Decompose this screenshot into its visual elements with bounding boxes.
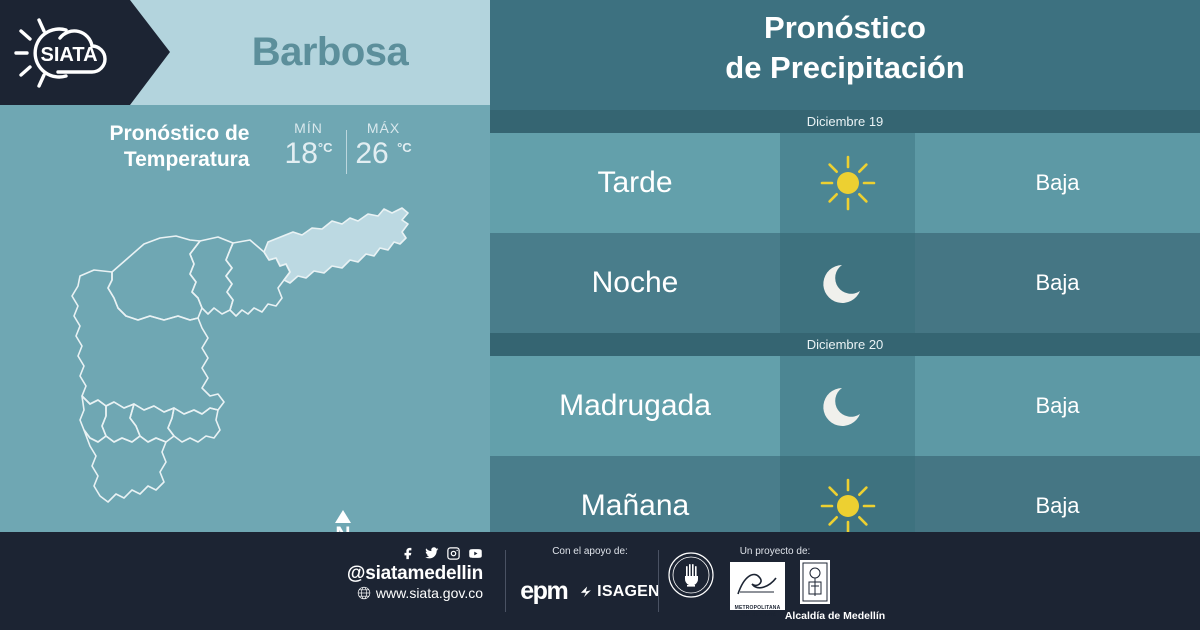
max-value-wrap: 26 °C (347, 137, 421, 171)
instagram-icon[interactable] (446, 546, 461, 561)
facebook-icon[interactable] (402, 546, 417, 561)
footer: @siatamedellin www.siata.gov.co Con el a… (0, 532, 1200, 630)
precipitation-title-line2: de Precipitación (725, 50, 964, 85)
forecast-period-label: Madrugada (559, 389, 711, 423)
isagen-logo: ISAGEN (579, 583, 660, 601)
forecast-row: TardeBaja (490, 133, 1200, 233)
project-block: Un proyecto de: (720, 546, 920, 557)
temperature-title-line2: Temperatura (124, 148, 250, 171)
map-svg (50, 180, 450, 525)
social-handle[interactable]: @siatamedellin (318, 563, 483, 585)
valley-map[interactable]: N (50, 180, 450, 525)
forecast-icon-cell (780, 133, 915, 233)
area-metropolitana-logo: METROPOLITANA Valle de Aburrá (730, 562, 785, 610)
area-logo-icon (730, 562, 785, 610)
footer-divider-1 (505, 550, 506, 612)
moon-icon (820, 378, 876, 434)
forecast-icon-cell (780, 356, 915, 456)
city-title: Barbosa (170, 0, 490, 105)
left-header: SIATA Barbosa (0, 0, 490, 105)
temperature-min: MÍN 18°C (272, 120, 346, 171)
website-row[interactable]: www.siata.gov.co (318, 585, 483, 601)
precipitation-title: Pronóstico de Precipitación (490, 8, 1200, 87)
youtube-icon[interactable] (468, 546, 483, 561)
area-logo-line2: Valle de Aburrá (730, 612, 785, 619)
sun-cloud-icon: SIATA (14, 16, 132, 90)
map-region-bello (108, 236, 202, 320)
forecast-period-cell: Tarde (490, 133, 780, 233)
isagen-text: ISAGEN (597, 583, 660, 601)
forecast-level-label: Baja (1035, 270, 1079, 296)
min-value: 18 (285, 137, 318, 170)
map-region-envigado (168, 408, 220, 442)
temperature-title: Pronóstico de Temperatura (70, 121, 250, 172)
social-block: @siatamedellin www.siata.gov.co (318, 546, 483, 601)
forecast-period-label: Mañana (581, 489, 689, 523)
alcaldia-label: Alcaldía de Medellín (780, 610, 890, 622)
max-unit: °C (397, 140, 412, 155)
temperature-values: MÍN 18°C MÁX 26 °C (272, 120, 421, 174)
footer-divider-2 (658, 550, 659, 612)
forecast-period-label: Tarde (597, 166, 672, 200)
university-seal (668, 552, 714, 598)
temperature-title-line1: Pronóstico de (109, 122, 249, 145)
map-region-itagui (130, 404, 174, 442)
map-region-barbosa (264, 208, 408, 283)
sun-icon (820, 155, 876, 211)
social-icon-row (318, 546, 483, 561)
forecast-table: Diciembre 19TardeBajaNocheBajaDiciembre … (490, 110, 1200, 556)
temperature-max: MÁX 26 °C (347, 120, 421, 171)
epm-logo: epm (520, 577, 567, 606)
map-region-copacabana (190, 237, 233, 314)
area-logo-line1: METROPOLITANA (730, 605, 785, 612)
map-region-sabaneta (102, 402, 140, 442)
website-text: www.siata.gov.co (376, 585, 483, 601)
forecast-level-label: Baja (1035, 170, 1079, 196)
temperature-divider (346, 130, 347, 174)
forecast-level-cell: Baja (915, 133, 1200, 233)
logo-text: SIATA (40, 44, 97, 66)
precipitation-panel: Pronóstico de Precipitación Diciembre 19… (490, 0, 1200, 532)
isagen-mark-icon (579, 584, 594, 599)
moon-icon (820, 255, 876, 311)
logo-wedge: SIATA (0, 0, 170, 105)
map-region-medellin (72, 270, 224, 414)
max-label: MÁX (347, 120, 421, 136)
globe-icon (357, 586, 371, 600)
forecast-level-cell: Baja (915, 356, 1200, 456)
min-label: MÍN (272, 120, 346, 136)
forecast-row: MadrugadaBaja (490, 356, 1200, 456)
project-label: Un proyecto de: (720, 546, 830, 557)
precipitation-title-line1: Pronóstico (764, 10, 926, 45)
sponsors-block: Con el apoyo de: epm ISAGEN (520, 546, 660, 606)
min-unit: °C (318, 140, 333, 155)
map-region-caldas (84, 430, 166, 502)
sun-icon (820, 478, 876, 534)
support-label: Con el apoyo de: (520, 546, 660, 557)
forecast-date-bar: Diciembre 19 (490, 110, 1200, 133)
twitter-icon[interactable] (424, 546, 439, 561)
forecast-period-cell: Noche (490, 233, 780, 333)
alcaldia-shield-icon (800, 560, 830, 604)
forecast-period-label: Noche (592, 266, 679, 300)
map-region-laestrella (80, 396, 106, 442)
forecast-row: NocheBaja (490, 233, 1200, 333)
forecast-icon-cell (780, 233, 915, 333)
min-value-wrap: 18°C (272, 137, 346, 171)
infographic-root: SIATA Barbosa Pronóstico de Temperatura … (0, 0, 1200, 630)
forecast-date-bar: Diciembre 20 (490, 333, 1200, 356)
forecast-period-cell: Madrugada (490, 356, 780, 456)
north-arrow-icon (335, 510, 351, 523)
left-panel: SIATA Barbosa Pronóstico de Temperatura … (0, 0, 490, 532)
alcaldia-shield (800, 560, 830, 604)
seal-icon (668, 552, 714, 598)
forecast-level-label: Baja (1035, 493, 1079, 519)
temperature-block: Pronóstico de Temperatura MÍN 18°C MÁX 2… (0, 112, 490, 182)
max-value: 26 (355, 137, 388, 170)
forecast-level-label: Baja (1035, 393, 1079, 419)
forecast-level-cell: Baja (915, 233, 1200, 333)
